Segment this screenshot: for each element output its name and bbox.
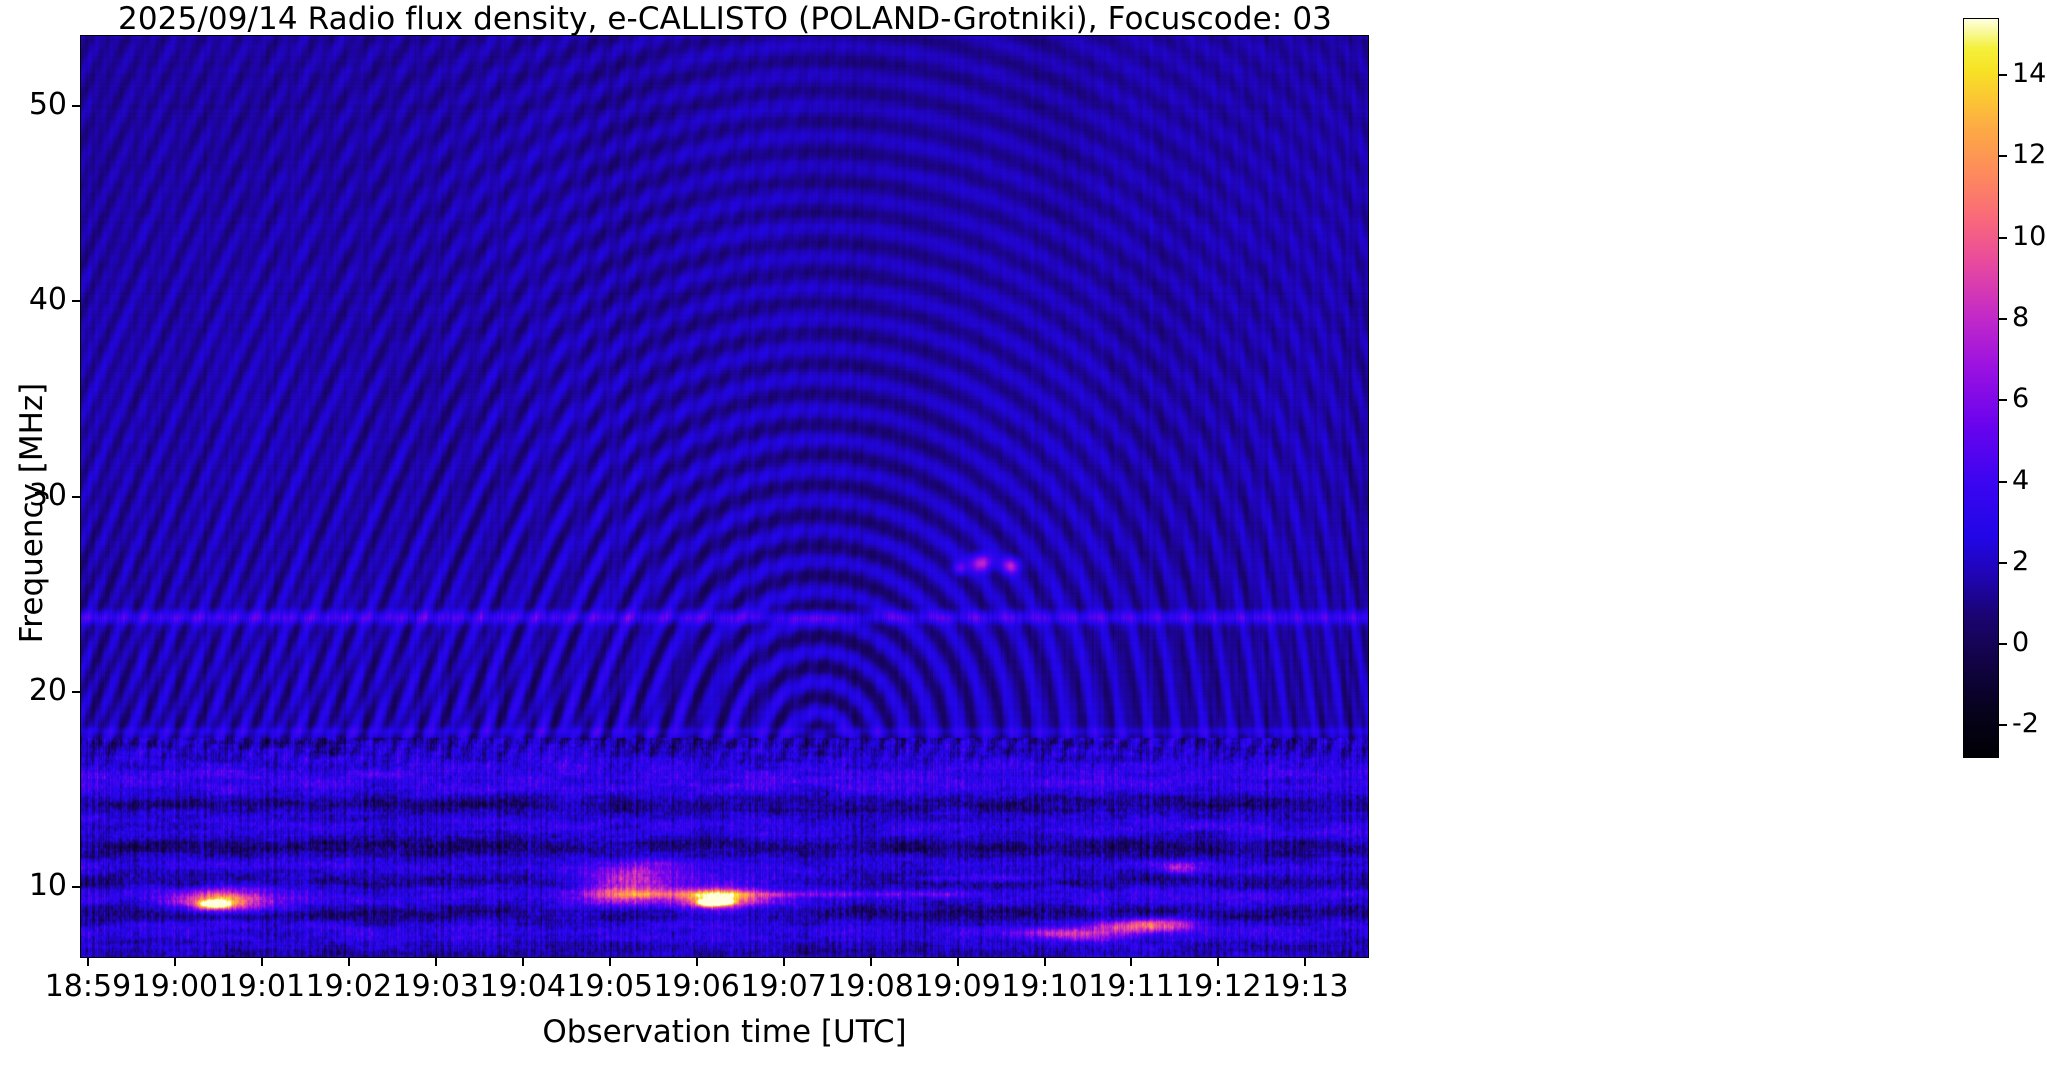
y-axis-label: Frequency [MHz]	[14, 213, 50, 813]
x-axis: 18:5919:0019:0119:0219:0319:0419:0519:06…	[80, 958, 1369, 1018]
x-tick-mark	[957, 958, 959, 966]
colorbar-tick-mark	[1999, 237, 2007, 239]
colorbar-tick-mark	[1999, 562, 2007, 564]
colorbar-tick-mark	[1999, 318, 2007, 320]
colorbar-tick-mark	[1999, 643, 2007, 645]
x-tick-mark	[87, 958, 89, 966]
colorbar-tick-label: 12	[2012, 137, 2046, 173]
x-tick-mark	[261, 958, 263, 966]
x-axis-label: Observation time [UTC]	[80, 1014, 1369, 1050]
colorbar-tick-label: 14	[2012, 56, 2046, 92]
colorbar-tick-label: 10	[2012, 219, 2046, 255]
y-tick-mark	[72, 691, 80, 693]
spectrogram-image	[81, 36, 1368, 957]
colorbar[interactable]: 14121086420-2 dB above background	[1963, 18, 2047, 758]
spectrogram-figure: 2025/09/14 Radio flux density, e-CALLIST…	[0, 0, 2047, 1067]
y-tick-mark	[72, 300, 80, 302]
y-axis: 5040302010 Frequency [MHz]	[0, 35, 80, 958]
y-tick-label: 50	[29, 87, 67, 123]
colorbar-tick-label: 6	[2012, 381, 2029, 417]
x-tick-mark	[783, 958, 785, 966]
x-tick-mark	[609, 958, 611, 966]
x-tick-mark	[1217, 958, 1219, 966]
colorbar-tick-label: 8	[2012, 300, 2029, 336]
spectrogram-plot-area[interactable]	[80, 35, 1369, 958]
x-tick-mark	[174, 958, 176, 966]
x-tick-mark	[1304, 958, 1306, 966]
colorbar-tick-mark	[1999, 724, 2007, 726]
x-tick-label: 19:13	[1235, 969, 1375, 1005]
x-tick-mark	[696, 958, 698, 966]
colorbar-gradient	[1963, 18, 1999, 758]
colorbar-tick-mark	[1999, 399, 2007, 401]
y-tick-mark	[72, 496, 80, 498]
x-tick-mark	[870, 958, 872, 966]
y-tick-mark	[72, 886, 80, 888]
colorbar-tick-mark	[1999, 155, 2007, 157]
y-tick-label: 10	[29, 868, 67, 904]
x-tick-mark	[1044, 958, 1046, 966]
colorbar-tick-mark	[1999, 74, 2007, 76]
x-tick-mark	[1130, 958, 1132, 966]
x-tick-mark	[522, 958, 524, 966]
colorbar-tick-label: 4	[2012, 463, 2029, 499]
x-tick-mark	[348, 958, 350, 966]
colorbar-tick-label: 0	[2012, 625, 2029, 661]
y-tick-mark	[72, 105, 80, 107]
figure-title: 2025/09/14 Radio flux density, e-CALLIST…	[80, 2, 1370, 36]
colorbar-tick-label: 2	[2012, 544, 2029, 580]
x-tick-mark	[435, 958, 437, 966]
colorbar-tick-label: -2	[2012, 706, 2039, 742]
colorbar-tick-mark	[1999, 481, 2007, 483]
